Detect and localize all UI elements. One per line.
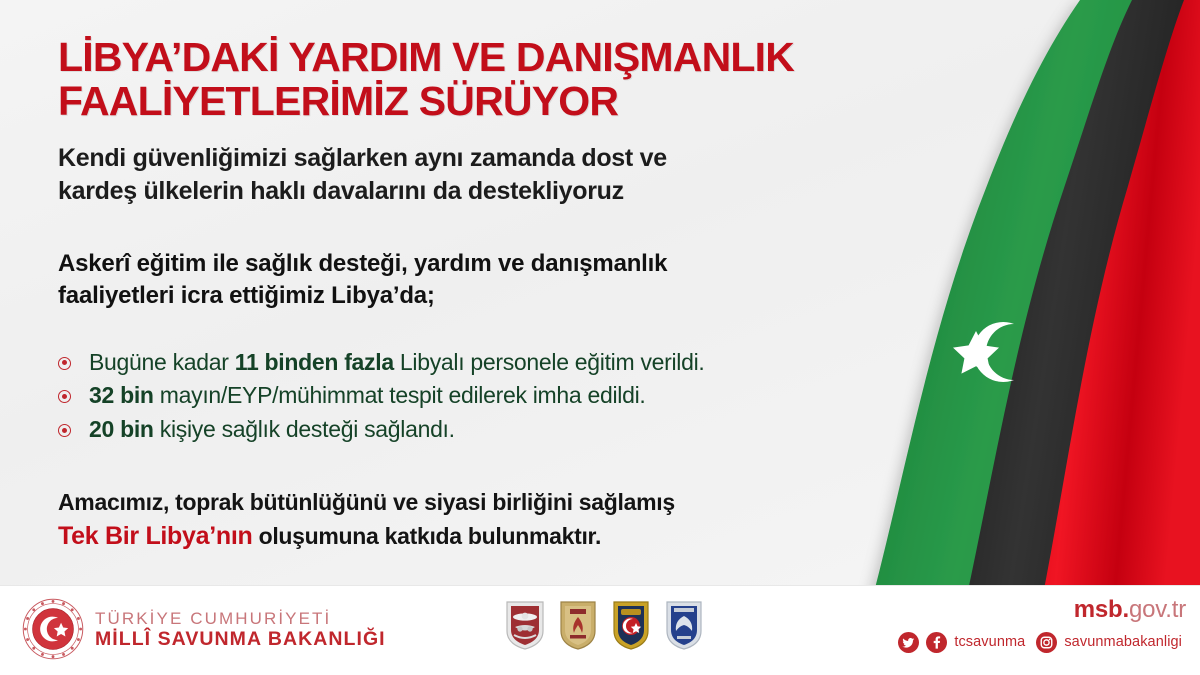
closing-highlight: Tek Bir Libya’nın — [58, 522, 252, 550]
statistics-list: Bugüne kadar 11 binden fazla Libyalı per… — [58, 346, 858, 447]
website-and-social: msb.gov.tr tcsavunma — [898, 596, 1186, 653]
turkish-defence-ministry-seal-icon — [22, 598, 84, 660]
general-staff-emblem — [505, 600, 545, 650]
lead-line-2: faaliyetleri icra ettiğimiz Libya’da; — [58, 280, 858, 312]
bullet-dot-icon — [58, 357, 71, 370]
bullet-dot-icon — [58, 424, 71, 437]
twitter-icon[interactable] — [898, 632, 919, 653]
star-and-crescent-icon — [953, 322, 1014, 382]
instagram-icon[interactable] — [1036, 632, 1057, 653]
ministry-line-2: MİLLÎ SAVUNMA BAKANLIĞI — [95, 628, 386, 651]
lead-paragraph: Askerî eğitim ile sağlık desteği, yardım… — [58, 248, 858, 313]
lead-line-1: Askerî eğitim ile sağlık desteği, yardım… — [58, 248, 858, 280]
social-links: tcsavunma savunmabakanligi — [898, 632, 1186, 653]
website-brand: msb — [1074, 596, 1123, 623]
bullet-text-bold: 11 binden fazla — [235, 349, 394, 375]
armed-forces-emblems — [505, 600, 704, 650]
social-handle-tcsavunma: tcsavunma — [954, 634, 1025, 650]
land-forces-emblem — [558, 600, 598, 650]
bullet-text-post: Libyalı personele eğitim verildi. — [394, 349, 705, 375]
closing-statement: Amacımız, toprak bütünlüğünü ve siyasi b… — [58, 489, 858, 551]
infographic-poster: LİBYA’DAKİ YARDIM VE DANIŞMANLIK FAALİYE… — [0, 0, 1200, 675]
bullet-text-post: kişiye sağlık desteği sağlandı. — [154, 416, 455, 442]
ministry-line-1: TÜRKİYE CUMHURİYETİ — [95, 609, 386, 629]
bullet-text-post: mayın/EYP/mühimmat tespit edilerek imha … — [154, 382, 646, 408]
naval-forces-emblem — [611, 600, 651, 650]
list-item: 32 bin mayın/EYP/mühimmat tespit edilere… — [58, 379, 858, 413]
facebook-icon[interactable] — [926, 632, 947, 653]
social-handle-savunmabakanligi: savunmabakanligi — [1064, 634, 1182, 650]
bullet-text-bold: 32 bin — [89, 382, 154, 408]
closing-tail: oluşumuna katkıda bulunmaktır. — [252, 523, 601, 549]
closing-line-1: Amacımız, toprak bütünlüğünü ve siyasi b… — [58, 489, 858, 516]
list-item: 20 bin kişiye sağlık desteği sağlandı. — [58, 413, 858, 447]
bullet-dot-icon — [58, 390, 71, 403]
subtitle-line-1: Kendi güvenliğimizi sağlarken aynı zaman… — [58, 142, 858, 175]
footer-bar: TÜRKİYE CUMHURİYETİ MİLLÎ SAVUNMA BAKANL… — [0, 585, 1200, 675]
poster-content: LİBYA’DAKİ YARDIM VE DANIŞMANLIK FAALİYE… — [58, 36, 858, 551]
bullet-text-bold: 20 bin — [89, 416, 154, 442]
closing-line-2: Tek Bir Libya’nın oluşumuna katkıda bulu… — [58, 522, 858, 551]
headline-line-1: LİBYA’DAKİ YARDIM VE DANIŞMANLIK — [58, 36, 858, 80]
air-forces-emblem — [664, 600, 704, 650]
ministry-logo: TÜRKİYE CUMHURİYETİ MİLLÎ SAVUNMA BAKANL… — [22, 598, 386, 660]
subtitle: Kendi güvenliğimizi sağlarken aynı zaman… — [58, 142, 858, 208]
website-url[interactable]: msb.gov.tr — [898, 596, 1186, 624]
list-item: Bugüne kadar 11 binden fazla Libyalı per… — [58, 346, 858, 380]
headline-line-2: FAALİYETLERİMİZ SÜRÜYOR — [58, 80, 858, 124]
bullet-text-pre: Bugüne kadar — [89, 349, 235, 375]
subtitle-line-2: kardeş ülkelerin haklı davalarını da des… — [58, 175, 858, 208]
website-tld: gov.tr — [1129, 596, 1186, 623]
